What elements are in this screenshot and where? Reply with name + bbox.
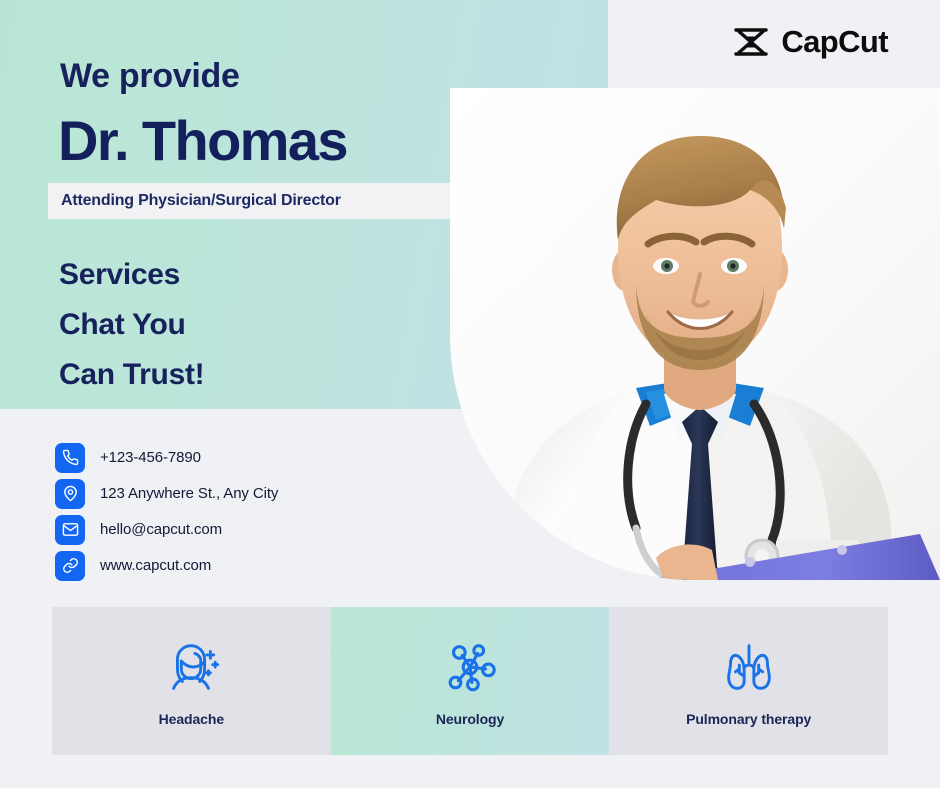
- link-icon: [55, 551, 85, 581]
- contact-address-text: 123 Anywhere St., Any City: [100, 485, 278, 502]
- contact-row-address[interactable]: 123 Anywhere St., Any City: [55, 476, 278, 511]
- contact-row-website[interactable]: www.capcut.com: [55, 548, 278, 583]
- service-label-headache: Headache: [159, 711, 224, 727]
- contact-phone-text: +123-456-7890: [100, 449, 201, 466]
- email-icon: [55, 515, 85, 545]
- role-badge: Attending Physician/Surgical Director: [48, 183, 453, 219]
- services-strip: Headache Neurology: [52, 607, 888, 755]
- service-card-headache[interactable]: Headache: [52, 607, 331, 755]
- poster-canvas: CapCut We provide Dr. Thomas Attending P…: [0, 0, 940, 788]
- contact-row-email[interactable]: hello@capcut.com: [55, 512, 278, 547]
- service-label-pulmonary: Pulmonary therapy: [686, 711, 811, 727]
- doctor-name-heading: Dr. Thomas: [58, 113, 347, 169]
- tagline-line-2: Chat You: [59, 300, 204, 350]
- contact-website-text: www.capcut.com: [100, 557, 211, 574]
- service-card-pulmonary[interactable]: Pulmonary therapy: [609, 607, 888, 755]
- service-label-neurology: Neurology: [436, 711, 504, 727]
- location-icon: [55, 479, 85, 509]
- contact-row-phone[interactable]: +123-456-7890: [55, 440, 278, 475]
- capcut-mark-icon: [732, 27, 770, 57]
- brand-logo[interactable]: CapCut: [732, 26, 888, 57]
- doctor-photo: [450, 88, 940, 580]
- lungs-icon: [718, 636, 780, 698]
- hero-eyebrow: We provide: [60, 57, 240, 96]
- phone-icon: [55, 443, 85, 473]
- tagline-line-3: Can Trust!: [59, 350, 204, 400]
- service-card-neurology[interactable]: Neurology: [331, 607, 610, 755]
- role-badge-text: Attending Physician/Surgical Director: [48, 192, 341, 210]
- neurology-icon: [439, 636, 501, 698]
- brand-logo-text: CapCut: [781, 26, 888, 57]
- headache-icon: [160, 636, 222, 698]
- contact-email-text: hello@capcut.com: [100, 521, 222, 538]
- contact-list: +123-456-7890 123 Anywhere St., Any City…: [55, 440, 278, 584]
- tagline-line-1: Services: [59, 250, 204, 300]
- hero-tagline: Services Chat You Can Trust!: [59, 250, 204, 400]
